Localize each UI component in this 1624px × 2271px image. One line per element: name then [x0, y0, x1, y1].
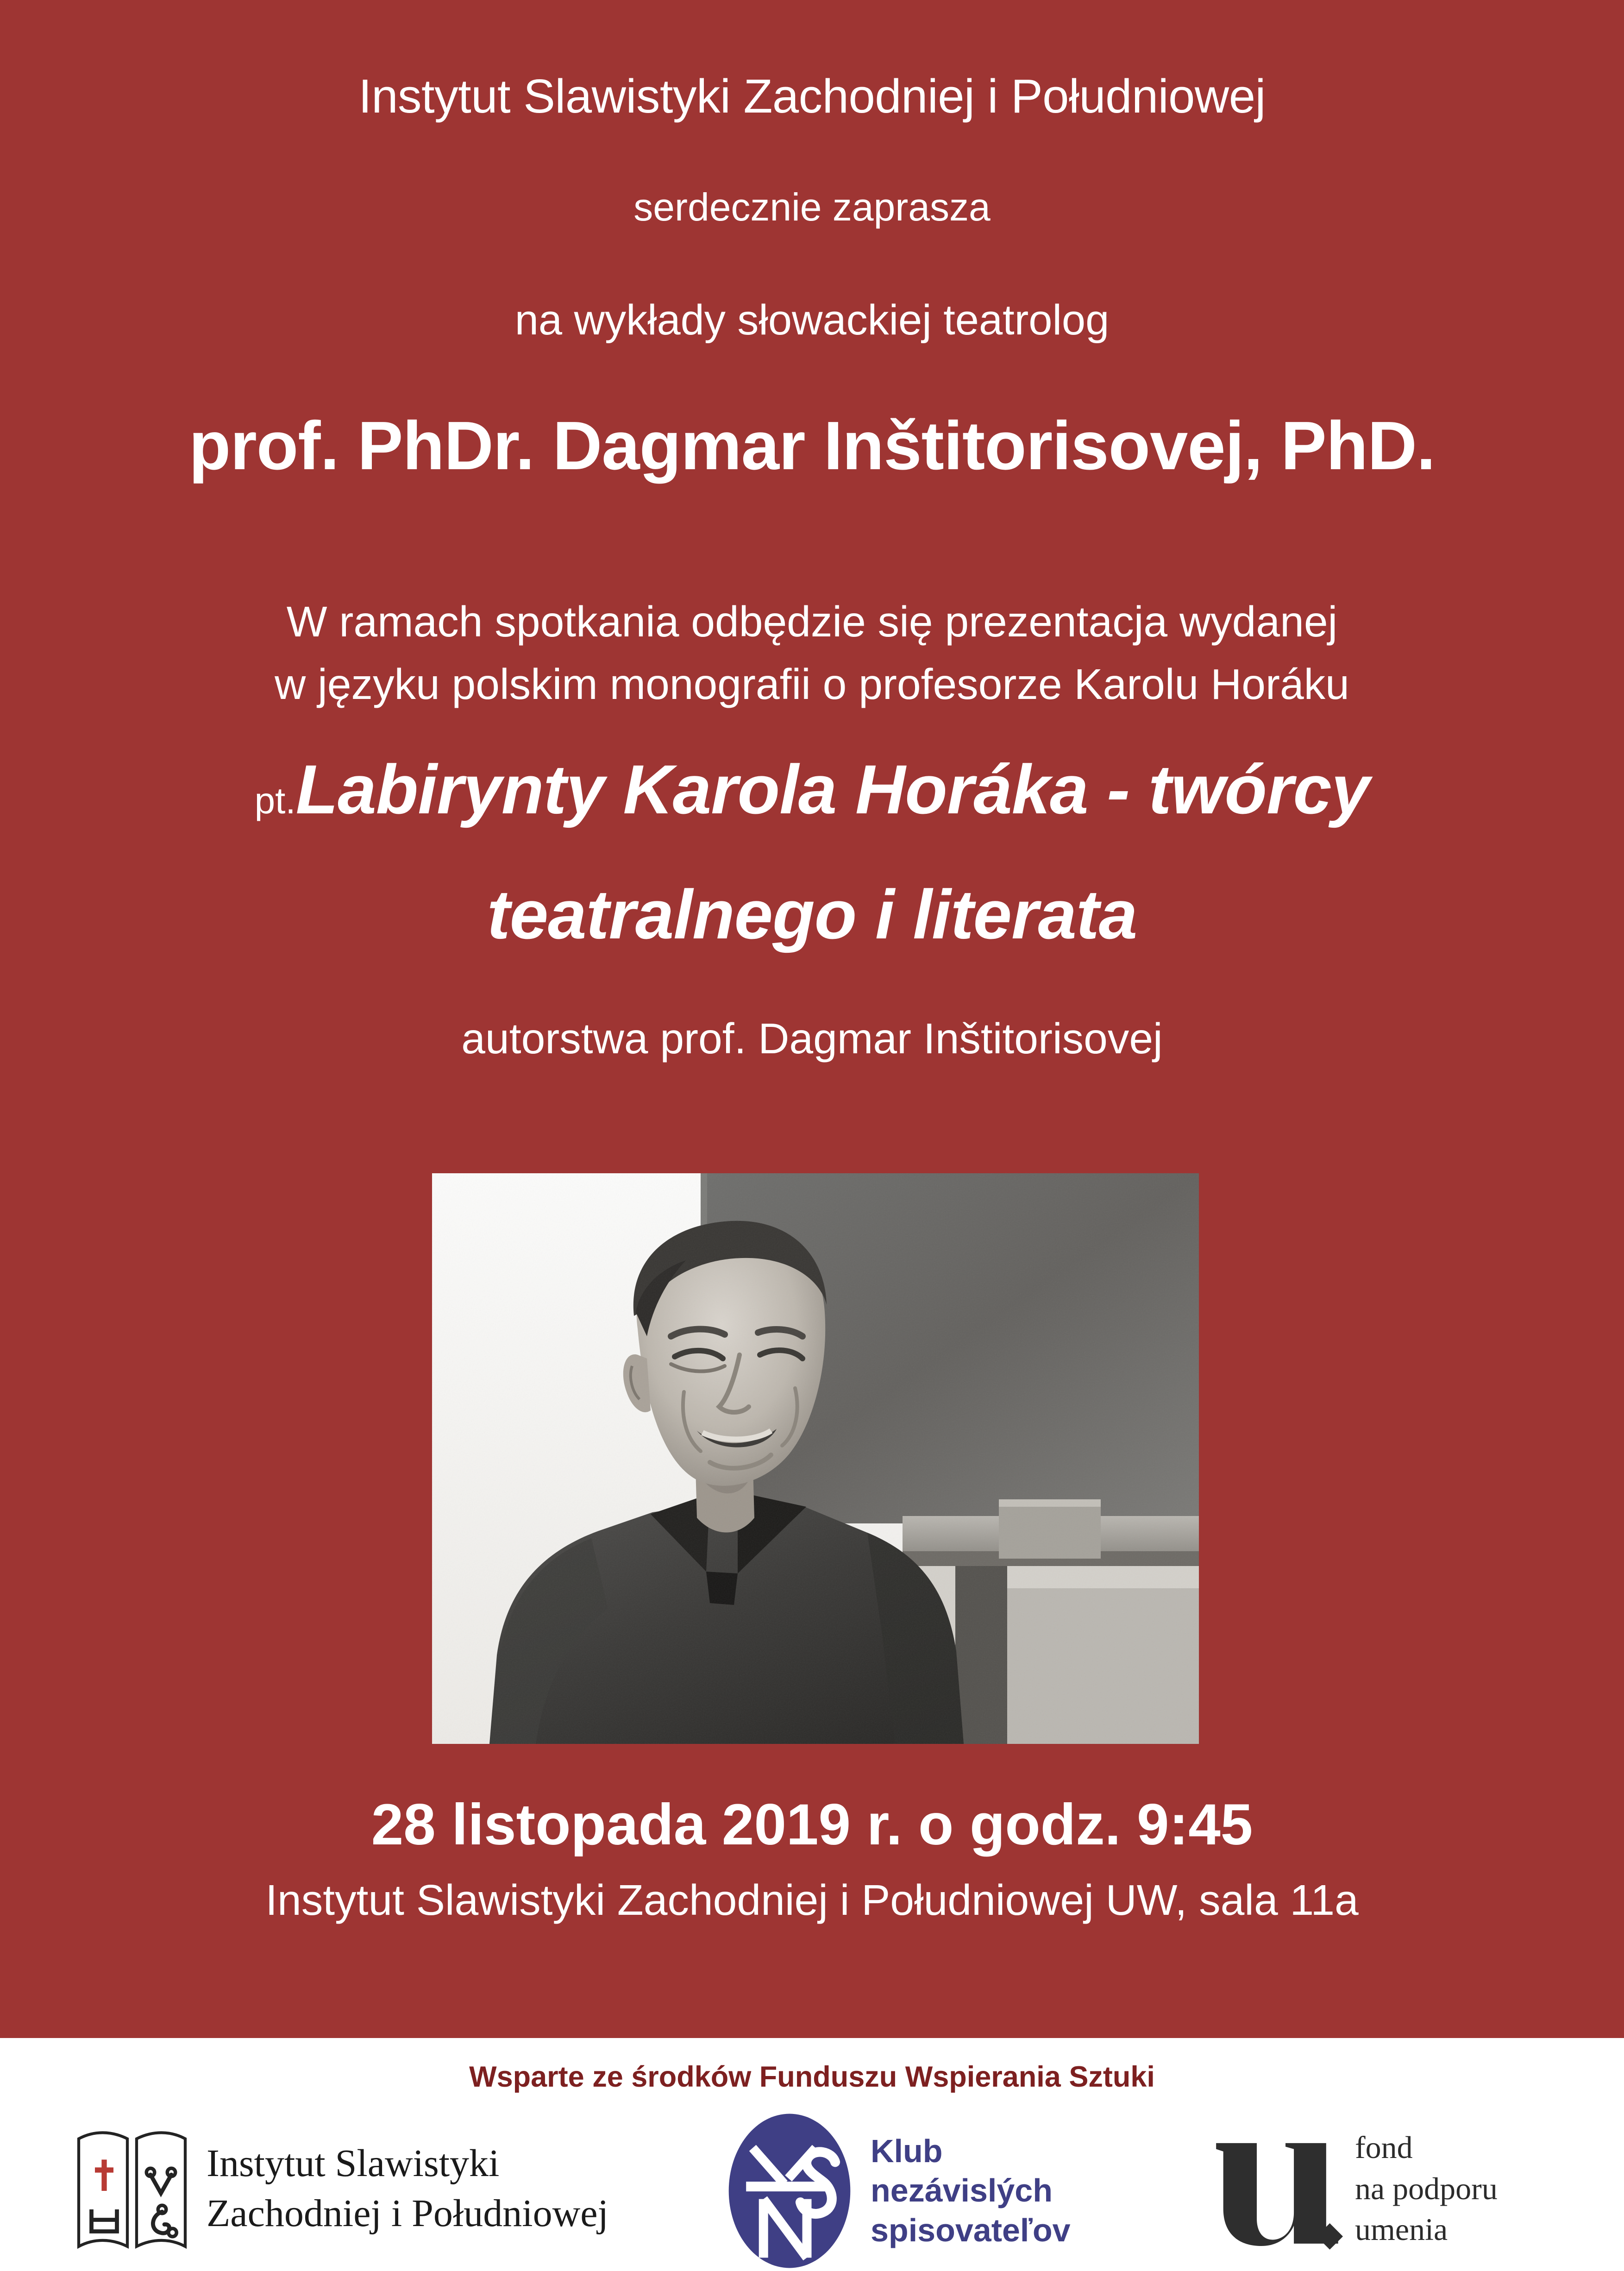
book-title-line-1: pt.Labirynty Karola Horáka - twórcy — [0, 750, 1624, 828]
book-title-text-1: Labirynty Karola Horáka - twórcy — [296, 750, 1370, 828]
logo-kns-line-2: nezávislých — [871, 2171, 1071, 2210]
poster-root: Instytut Slawistyki Zachodniej i Południ… — [0, 0, 1624, 2271]
logo-kns-line-1: Klub — [871, 2132, 1071, 2171]
body-line-2: w języku polskim monografii o profesorze… — [0, 660, 1624, 708]
logo-iszip-text: Instytut Slawistyki Zachodniej i Południ… — [207, 2139, 608, 2238]
book-author-line: autorstwa prof. Dagmar Inštitorisovej — [0, 1014, 1624, 1063]
logo-kns-text: Klub nezávislých spisovateľov — [871, 2132, 1071, 2250]
logo-fpu-line-3: umenia — [1355, 2209, 1498, 2250]
kns-monogram-icon — [722, 2112, 857, 2270]
open-book-icon — [74, 2121, 190, 2256]
event-datetime: 28 listopada 2019 r. o godz. 9:45 — [0, 1793, 1624, 1857]
institute-heading: Instytut Slawistyki Zachodniej i Południ… — [0, 69, 1624, 123]
logo-iszip-line-1: Instytut Slawistyki — [207, 2139, 608, 2189]
speaker-name: prof. PhDr. Dagmar Inštitorisovej, PhD. — [0, 408, 1624, 484]
logo-fpu-line-1: fond — [1355, 2127, 1498, 2168]
portrait-photo-image — [432, 1173, 1199, 1744]
body-line-1: W ramach spotkania odbędzie się prezenta… — [0, 598, 1624, 646]
logo-kns-line-3: spisovateľov — [871, 2211, 1071, 2250]
event-venue: Instytut Slawistyki Zachodniej i Południ… — [0, 1876, 1624, 1924]
portrait-photo — [432, 1173, 1199, 1744]
logo-fpu-line-2: na podporu — [1355, 2168, 1498, 2209]
book-title-line-2: teatralnego i literata — [0, 875, 1624, 953]
logo-fpu: fond na podporu umenia — [1199, 2117, 1498, 2260]
lectures-intro-line: na wykłady słowackiej teatrolog — [0, 296, 1624, 344]
logo-iszip: Instytut Slawistyki Zachodniej i Południ… — [74, 2121, 608, 2256]
poster-footer: Wsparte ze środków Funduszu Wspierania S… — [0, 2038, 1624, 2271]
poster-red-background: Instytut Slawistyki Zachodniej i Południ… — [0, 0, 1624, 2038]
logo-row: Instytut Slawistyki Zachodniej i Południ… — [0, 2112, 1624, 2270]
logo-fpu-text: fond na podporu umenia — [1355, 2127, 1498, 2250]
invitation-line: serdecznie zaprasza — [0, 185, 1624, 229]
logo-iszip-line-2: Zachodniej i Południowej — [207, 2189, 608, 2239]
logo-kns: Klub nezávislých spisovateľov — [722, 2112, 1071, 2270]
book-title-prefix: pt. — [255, 780, 296, 821]
fpu-u-monogram-icon — [1199, 2117, 1343, 2260]
funding-credit: Wsparte ze środków Funduszu Wspierania S… — [0, 2060, 1624, 2094]
